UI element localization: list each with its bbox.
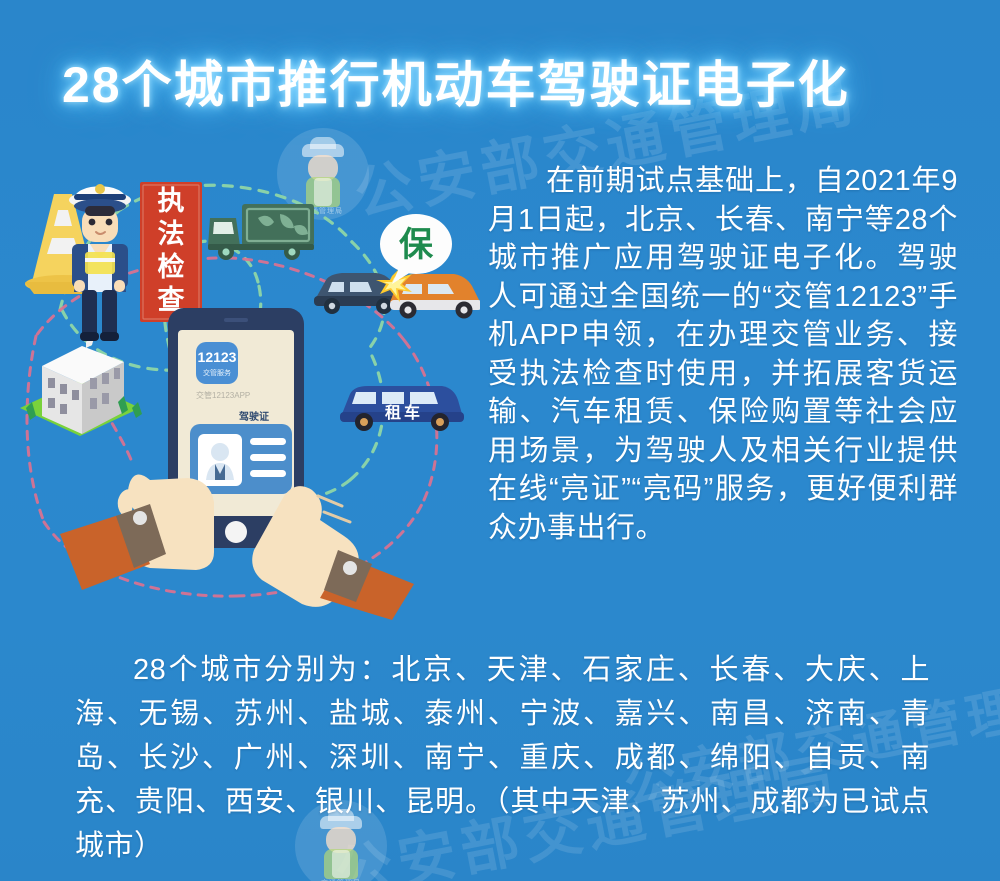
banner-char-2: 法 (158, 219, 185, 249)
banner-char-1: 执 (158, 186, 185, 216)
banner-char-3: 检 (158, 251, 185, 282)
app-icon-text: 12123 (198, 349, 237, 365)
infographic-page: 公安部交通管理局 公安部交通管理局 公安部交通管理局 交通管理局 交通管理局 2… (0, 0, 1000, 881)
cargo-truck-icon (208, 204, 314, 260)
paragraph-intro: 在前期试点基础上，自2021年9月1日起，北京、长春、南宁等28个城市推广应用驾… (488, 162, 958, 547)
government-building-icon (20, 337, 142, 436)
license-card-title: 驾驶证 (238, 410, 269, 423)
police-officer-icon (69, 184, 131, 341)
app-caption: 交管12123APP (196, 390, 250, 400)
illustration-graphic: 执 法 检 查 (0, 150, 480, 620)
app-icon-subtext: 交管服务 (203, 368, 231, 377)
insurance-bubble-label: 保 (399, 226, 434, 264)
paragraph-city-list: 28个城市分别为：北京、天津、石家庄、长春、大庆、上海、无锡、苏州、盐城、泰州、… (75, 648, 930, 868)
rental-van-label: 租车 (385, 403, 423, 422)
main-paragraph-block: 在前期试点基础上，自2021年9月1日起，北京、长春、南宁等28个城市推广应用驾… (488, 162, 958, 547)
page-title: 28个城市推行机动车驾驶证电子化 (62, 45, 850, 117)
